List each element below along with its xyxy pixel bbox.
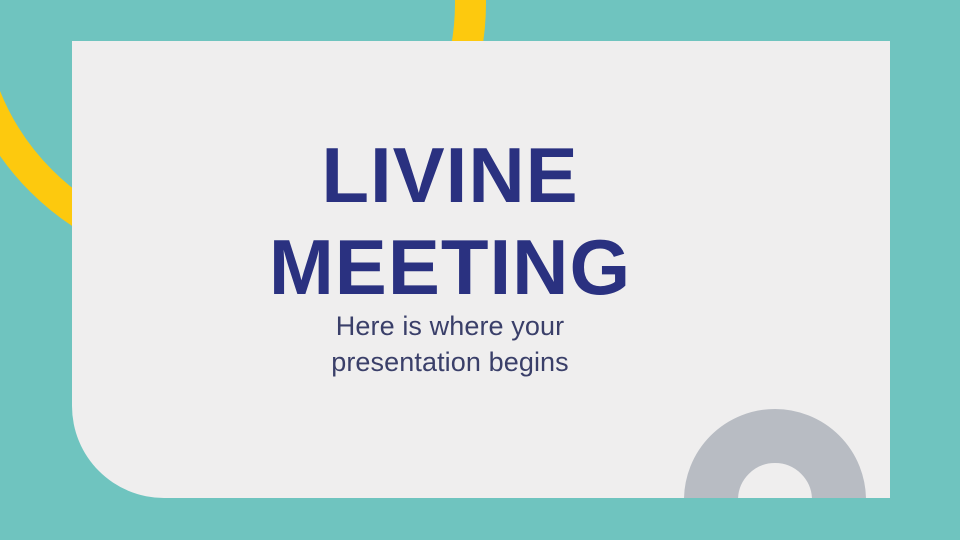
- page-subtitle: Here is where your presentation begins: [72, 309, 828, 380]
- subtitle-line-1: Here is where your: [72, 309, 828, 345]
- page-title: LIVINE MEETING: [72, 129, 828, 313]
- title-line-2: MEETING: [72, 221, 828, 313]
- title-slide: LIVINE MEETING Here is where your presen…: [0, 0, 960, 540]
- subtitle-line-2: presentation begins: [72, 345, 828, 381]
- content-card: LIVINE MEETING Here is where your presen…: [72, 41, 890, 498]
- title-line-1: LIVINE: [72, 129, 828, 221]
